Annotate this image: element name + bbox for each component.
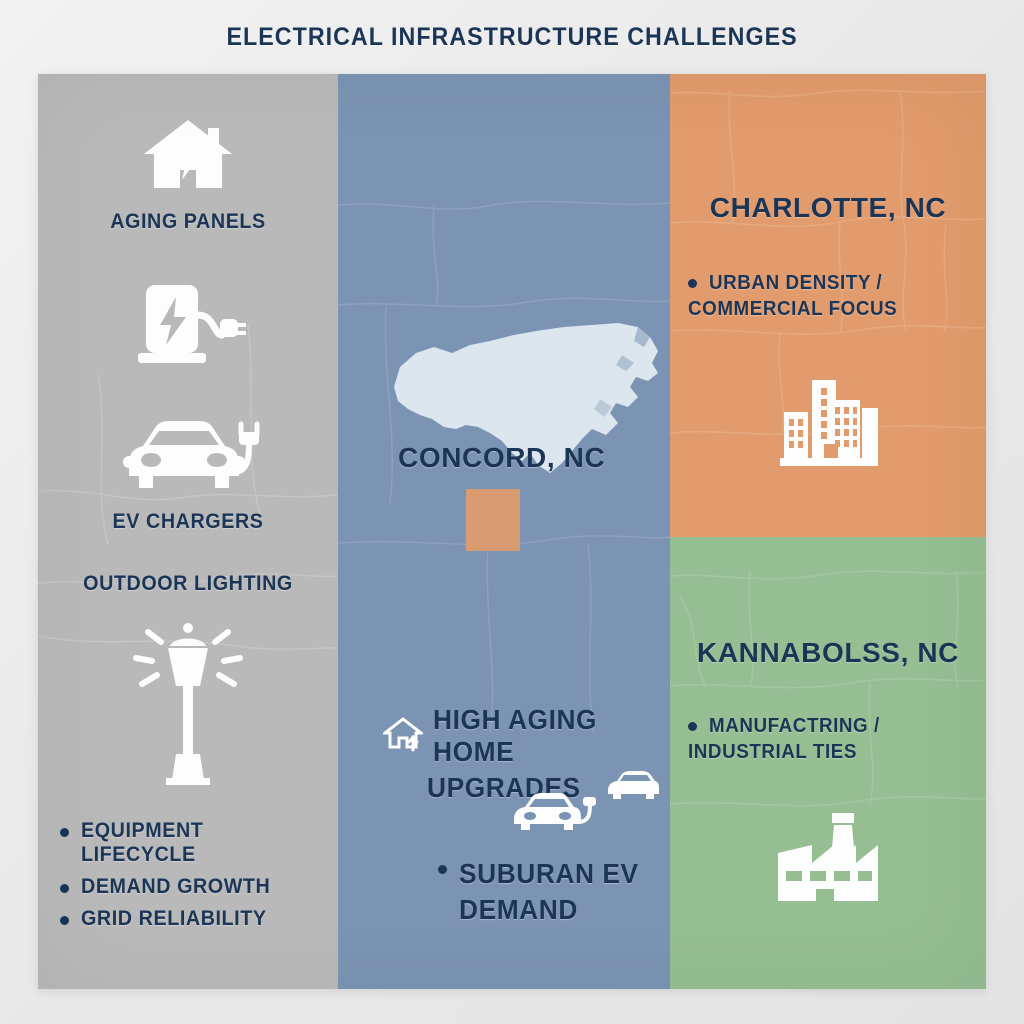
bullet-dot-icon xyxy=(60,916,69,925)
bullet-dot-icon xyxy=(60,828,69,837)
concord-bullet-list: SUBURAN EV DEMAND xyxy=(438,856,668,928)
left-item-outdoor-lighting: OUTDOOR LIGHTING xyxy=(38,572,338,786)
bullet-text-2: GRID RELIABILITY xyxy=(81,907,267,931)
panels-board: AGING PANELS xyxy=(38,74,986,989)
bullet-text-0: EQUIPMENT LIFECYCLE xyxy=(81,819,323,867)
concord-bullet-line-1: SUBURAN EV xyxy=(459,856,639,892)
bullet-dot-icon xyxy=(688,722,697,731)
poster-title-bar: ELECTRICAL INFRASTRUCTURE CHALLENGES xyxy=(0,0,1024,74)
list-item: URBAN DENSITY / COMMERCIAL FOCUS xyxy=(688,270,973,322)
city-buildings-icon xyxy=(670,366,986,476)
panel-concord: CONCORD, NC HIGH AGING HOME UPGRADES xyxy=(338,74,670,989)
panel-kannapolis: KANNABOLSS, NC MANUFACTRING / INDUSTRIAL… xyxy=(670,537,986,989)
panel-charlotte: CHARLOTTE, NC URBAN DENSITY / COMMERCIAL… xyxy=(670,74,986,537)
challenge-bullet-list: EQUIPMENT LIFECYCLE DEMAND GROWTH GRID R… xyxy=(60,819,338,939)
page-title: ELECTRICAL INFRASTRUCTURE CHALLENGES xyxy=(226,23,797,52)
county-highlight-block xyxy=(466,489,520,551)
charlotte-title: CHARLOTTE, NC xyxy=(670,192,986,224)
headline-row-1: HIGH AGING HOME xyxy=(383,704,670,768)
concord-map-label: CONCORD, NC xyxy=(398,442,670,474)
concord-bullet-line-2: DEMAND xyxy=(459,892,639,928)
list-item: MANUFACTRING / INDUSTRIAL TIES xyxy=(688,713,973,765)
charlotte-bullet-list: URBAN DENSITY / COMMERCIAL FOCUS xyxy=(688,270,973,322)
infographic-poster: ELECTRICAL INFRASTRUCTURE CHALLENGES xyxy=(0,0,1024,1024)
left-item-label-2: EV CHARGERS xyxy=(47,510,329,534)
street-lamp-icon xyxy=(38,618,338,786)
headline-line-1: HIGH AGING HOME xyxy=(433,704,659,768)
list-item: DEMAND GROWTH xyxy=(60,875,338,899)
left-item-label-3: OUTDOOR LIGHTING xyxy=(47,572,329,596)
panel-neighbors: CHARLOTTE, NC URBAN DENSITY / COMMERCIAL… xyxy=(670,74,986,989)
list-item: EQUIPMENT LIFECYCLE xyxy=(60,819,338,867)
charlotte-bullet-line-1: URBAN DENSITY / xyxy=(709,270,898,296)
left-item-charging-station xyxy=(38,279,338,367)
left-item-ev-chargers: EV CHARGERS xyxy=(38,412,338,534)
house-upgrade-icon xyxy=(383,716,423,757)
panel-challenges: AGING PANELS xyxy=(38,74,338,989)
ev-car-plug-icon xyxy=(38,412,338,496)
car-icon xyxy=(603,770,661,805)
left-item-aging-panels: AGING PANELS xyxy=(38,114,338,234)
bullet-dot-icon xyxy=(438,865,447,874)
ev-charging-station-icon xyxy=(38,279,338,367)
kannapolis-title: KANNABOLSS, NC xyxy=(670,637,986,669)
kannapolis-bullet-line-2: INDUSTRIAL TIES xyxy=(688,739,879,765)
bullet-dot-icon xyxy=(60,884,69,893)
charlotte-bullet-line-2: COMMERCIAL FOCUS xyxy=(688,296,897,322)
list-item: GRID RELIABILITY xyxy=(60,907,338,931)
concord-label-text: CONCORD, NC xyxy=(398,442,605,473)
left-item-label-0: AGING PANELS xyxy=(47,210,329,234)
factory-icon xyxy=(670,809,986,909)
list-item: SUBURAN EV DEMAND xyxy=(438,856,668,928)
kannapolis-bullet-list: MANUFACTRING / INDUSTRIAL TIES xyxy=(688,713,973,765)
car-plug-icon xyxy=(508,790,596,843)
bullet-dot-icon xyxy=(688,279,697,288)
bullet-text-1: DEMAND GROWTH xyxy=(81,875,270,899)
house-bolt-icon xyxy=(38,114,338,194)
kannapolis-bullet-line-1: MANUFACTRING / xyxy=(709,713,880,739)
